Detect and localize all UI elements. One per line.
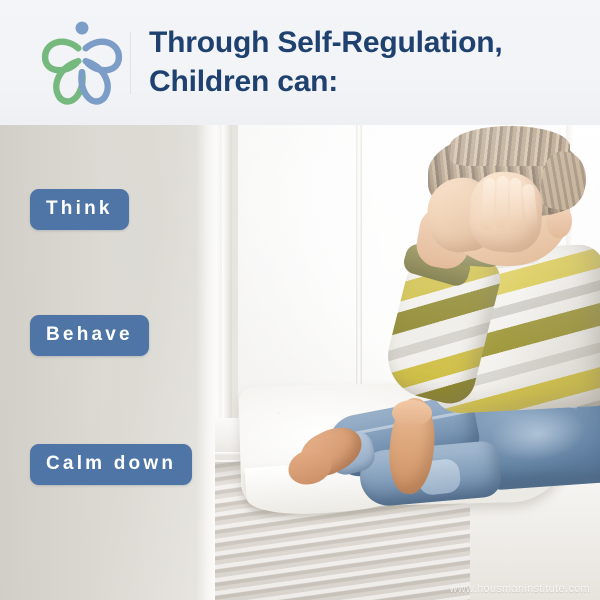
page-title: Through Self-Regulation, Children can: <box>149 24 503 101</box>
finger <box>495 176 509 228</box>
header-band: Through Self-Regulation, Children can: <box>0 0 600 125</box>
watermark: www.housmaninstitute.com <box>450 583 590 595</box>
child-figure <box>300 130 600 550</box>
logo-divider <box>130 32 131 94</box>
toes-near <box>392 400 432 426</box>
badge-behave: Behave <box>30 315 149 356</box>
poster: Through Self-Regulation, Children can: T… <box>0 0 600 600</box>
title-line-1: Through Self-Regulation, <box>149 26 503 59</box>
butterfly-logo-icon <box>36 17 128 109</box>
badge-think: Think <box>30 189 129 230</box>
badge-calm-down: Calm down <box>30 444 192 485</box>
title-line-2: Children can: <box>149 63 503 101</box>
finger <box>509 178 523 230</box>
